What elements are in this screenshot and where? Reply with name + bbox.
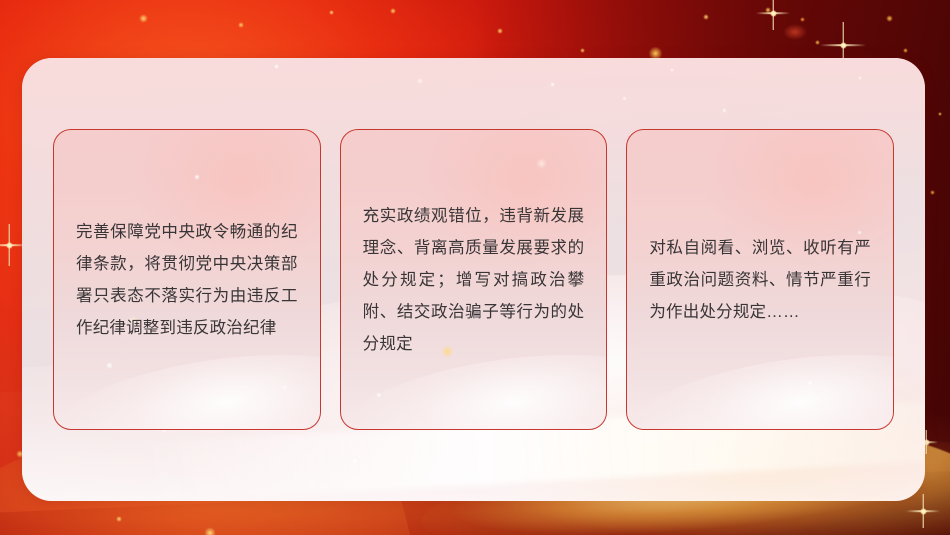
particle (376, 392, 382, 398)
card-shine (53, 331, 321, 430)
particle (194, 174, 200, 180)
card-2-text: 充实政绩观错位，违背新发展理念、背离高质量发展要求的处分规定；增写对搞政治攀附、… (341, 200, 607, 360)
particle (282, 385, 287, 390)
particle (106, 362, 113, 369)
card-shine (626, 331, 894, 430)
card-3-text: 对私自阅看、浏览、收听有严重政治问题资料、情节严重行为作出处分规定…… (627, 232, 893, 328)
content-card-3[interactable]: 对私自阅看、浏览、收听有严重政治问题资料、情节严重行为作出处分规定…… (626, 129, 894, 430)
content-panel: 完善保障党中央政令畅通的纪律条款，将贯彻党中央决策部署只表态不落实行为由违反工作… (22, 58, 925, 501)
slide-canvas: 完善保障党中央政令畅通的纪律条款，将贯彻党中央决策部署只表态不落实行为由违反工作… (0, 0, 950, 535)
particle (807, 380, 813, 386)
card-row: 完善保障党中央政令畅通的纪律条款，将贯彻党中央决策部署只表态不落实行为由违反工作… (22, 58, 925, 501)
particle (536, 158, 547, 169)
card-1-text: 完善保障党中央政令畅通的纪律条款，将贯彻党中央决策部署只表态不落实行为由违反工作… (54, 216, 320, 344)
content-card-2[interactable]: 充实政绩观错位，违背新发展理念、背离高质量发展要求的处分规定；增写对搞政治攀附、… (340, 129, 608, 430)
content-card-1[interactable]: 完善保障党中央政令畅通的纪律条款，将贯彻党中央决策部署只表态不落实行为由违反工作… (53, 129, 321, 430)
